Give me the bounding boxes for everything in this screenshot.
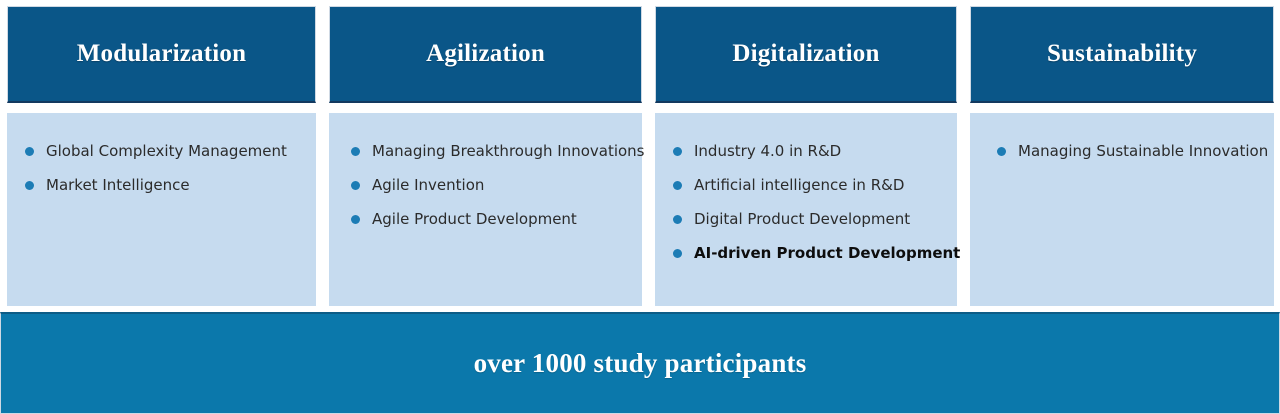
topic-label: Managing Breakthrough Innovations: [372, 141, 645, 161]
topic-label: Global Complexity Management: [46, 141, 287, 161]
bullet-dot-icon: [351, 147, 360, 156]
list-item: Global Complexity Management: [25, 141, 316, 161]
list-item: Market Intelligence: [25, 175, 316, 195]
bullet-dot-icon: [673, 181, 682, 190]
bullet-dot-icon: [997, 147, 1006, 156]
list-item: AI-driven Product Development: [673, 243, 957, 263]
list-item: Industry 4.0 in R&D: [673, 141, 957, 161]
topic-label: Market Intelligence: [46, 175, 190, 195]
topic-list: Global Complexity Management Market Inte…: [25, 141, 316, 195]
pillar-body-sustainability: Managing Sustainable Innovation: [970, 113, 1274, 306]
topic-label: Managing Sustainable Innovation: [1018, 141, 1268, 161]
pillar-column-modularization: Modularization Global Complexity Managem…: [0, 0, 322, 306]
participants-banner: over 1000 study participants: [0, 312, 1280, 414]
pillar-title: Digitalization: [732, 40, 879, 68]
list-item: Agile Invention: [351, 175, 642, 195]
pillar-title: Modularization: [77, 40, 246, 68]
pillar-column-agilization: Agilization Managing Breakthrough Innova…: [322, 0, 648, 306]
list-item: Managing Breakthrough Innovations: [351, 141, 642, 161]
list-item: Agile Product Development: [351, 209, 642, 229]
bullet-dot-icon: [673, 147, 682, 156]
pillar-body-modularization: Global Complexity Management Market Inte…: [7, 113, 316, 306]
pillar-body-agilization: Managing Breakthrough Innovations Agile …: [329, 113, 642, 306]
topic-label: Artificial intelligence in R&D: [694, 175, 904, 195]
bullet-dot-icon: [351, 181, 360, 190]
pillar-column-sustainability: Sustainability Managing Sustainable Inno…: [963, 0, 1280, 306]
topic-list: Managing Breakthrough Innovations Agile …: [351, 141, 642, 229]
topic-list: Industry 4.0 in R&D Artificial intellige…: [673, 141, 957, 263]
pillar-title: Sustainability: [1047, 40, 1197, 68]
bullet-dot-icon: [25, 147, 34, 156]
topic-label: AI-driven Product Development: [694, 243, 960, 263]
bullet-dot-icon: [351, 215, 360, 224]
bullet-dot-icon: [673, 215, 682, 224]
pillar-body-digitalization: Industry 4.0 in R&D Artificial intellige…: [655, 113, 957, 306]
participants-banner-text: over 1000 study participants: [474, 348, 807, 379]
pillar-header-sustainability: Sustainability: [970, 6, 1274, 103]
topic-list: Managing Sustainable Innovation: [997, 141, 1274, 161]
bullet-dot-icon: [673, 249, 682, 258]
pillar-header-agilization: Agilization: [329, 6, 642, 103]
pillar-columns: Modularization Global Complexity Managem…: [0, 0, 1280, 306]
topic-label: Agile Invention: [372, 175, 484, 195]
topic-label: Digital Product Development: [694, 209, 910, 229]
pillar-title: Agilization: [426, 40, 545, 68]
list-item: Digital Product Development: [673, 209, 957, 229]
list-item: Artificial intelligence in R&D: [673, 175, 957, 195]
bullet-dot-icon: [25, 181, 34, 190]
pillar-column-digitalization: Digitalization Industry 4.0 in R&D Artif…: [648, 0, 963, 306]
pillar-header-digitalization: Digitalization: [655, 6, 957, 103]
topic-label: Agile Product Development: [372, 209, 577, 229]
list-item: Managing Sustainable Innovation: [997, 141, 1274, 161]
study-pillars-board: Modularization Global Complexity Managem…: [0, 0, 1280, 414]
pillar-header-modularization: Modularization: [7, 6, 316, 103]
topic-label: Industry 4.0 in R&D: [694, 141, 841, 161]
